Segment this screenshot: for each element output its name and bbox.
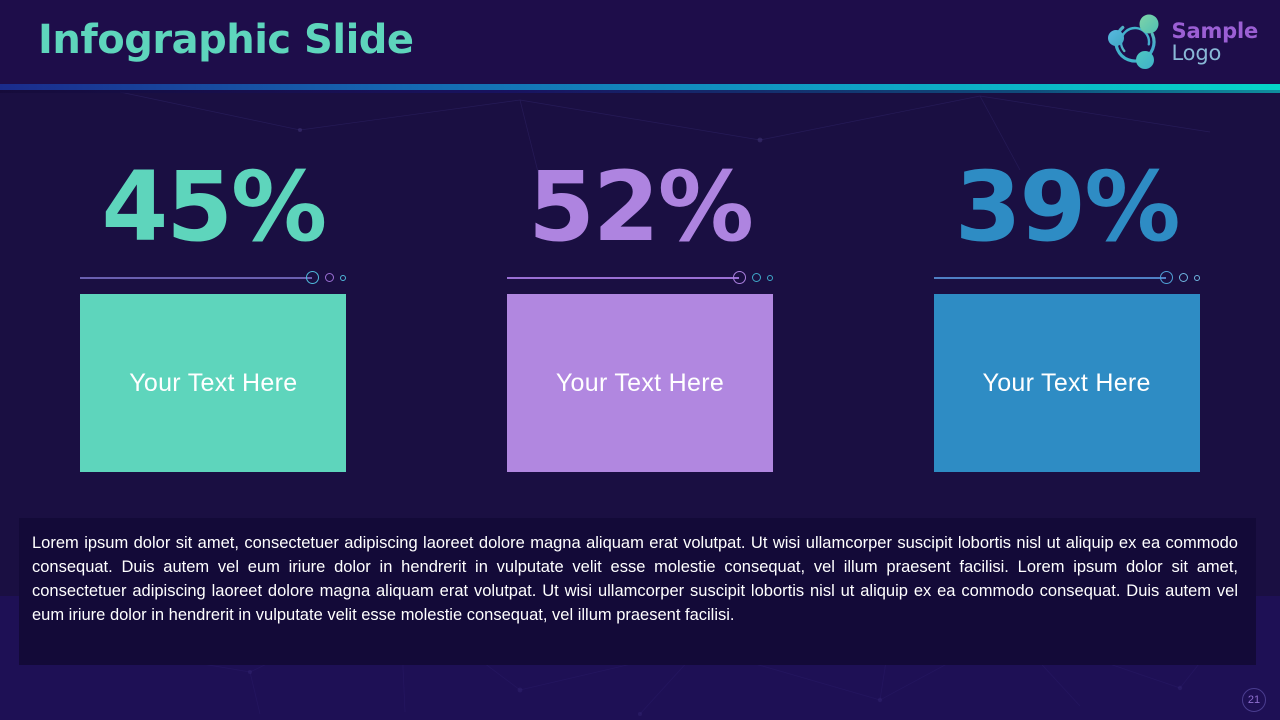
divider-dot-medium-2 <box>752 273 761 282</box>
stat-column-3: 39% Your Text Here <box>853 148 1280 472</box>
divider-dot-large-2 <box>733 271 746 284</box>
divider-dot-large-3 <box>1160 271 1173 284</box>
divider-dot-small-3 <box>1194 275 1200 281</box>
divider-dot-medium-3 <box>1179 273 1188 282</box>
divider-dot-medium-1 <box>325 273 334 282</box>
text-box-3[interactable]: Your Text Here <box>934 294 1200 472</box>
molecule-network-icon <box>1104 12 1166 72</box>
text-box-label-2: Your Text Here <box>556 369 724 398</box>
text-box-label-3: Your Text Here <box>983 369 1151 398</box>
divider-row-3 <box>934 266 1200 290</box>
divider-dot-small-2 <box>767 275 773 281</box>
logo-text-block: Sample Logo <box>1172 20 1258 64</box>
divider-row-1 <box>80 266 346 290</box>
body-paragraph-box: Lorem ipsum dolor sit amet, consectetuer… <box>19 518 1256 665</box>
body-paragraph-text: Lorem ipsum dolor sit amet, consectetuer… <box>32 531 1238 627</box>
logo-line-2: Logo <box>1172 42 1258 64</box>
slide-header: Infographic Slide <box>0 0 1280 84</box>
page-number-badge: 21 <box>1242 688 1266 712</box>
logo-line-1: Sample <box>1172 20 1258 42</box>
stat-value-1: 45% <box>101 148 325 266</box>
page-title: Infographic Slide <box>38 17 414 63</box>
text-box-label-1: Your Text Here <box>129 369 297 398</box>
stat-column-1: 45% Your Text Here <box>0 148 427 472</box>
text-box-2[interactable]: Your Text Here <box>507 294 773 472</box>
header-accent-bar-secondary <box>0 90 1280 93</box>
divider-line-2 <box>507 277 739 279</box>
divider-row-2 <box>507 266 773 290</box>
divider-dot-large-1 <box>306 271 319 284</box>
brand-logo: Sample Logo <box>1104 12 1258 72</box>
stat-column-2: 52% Your Text Here <box>427 148 854 472</box>
stat-value-3: 39% <box>955 148 1179 266</box>
divider-dot-small-1 <box>340 275 346 281</box>
stats-columns: 45% Your Text Here 52% Your Text Here <box>0 148 1280 472</box>
divider-line-1 <box>80 277 312 279</box>
slide-canvas: Infographic Slide <box>0 0 1280 720</box>
divider-line-3 <box>934 277 1166 279</box>
text-box-1[interactable]: Your Text Here <box>80 294 346 472</box>
stat-value-2: 52% <box>528 148 752 266</box>
